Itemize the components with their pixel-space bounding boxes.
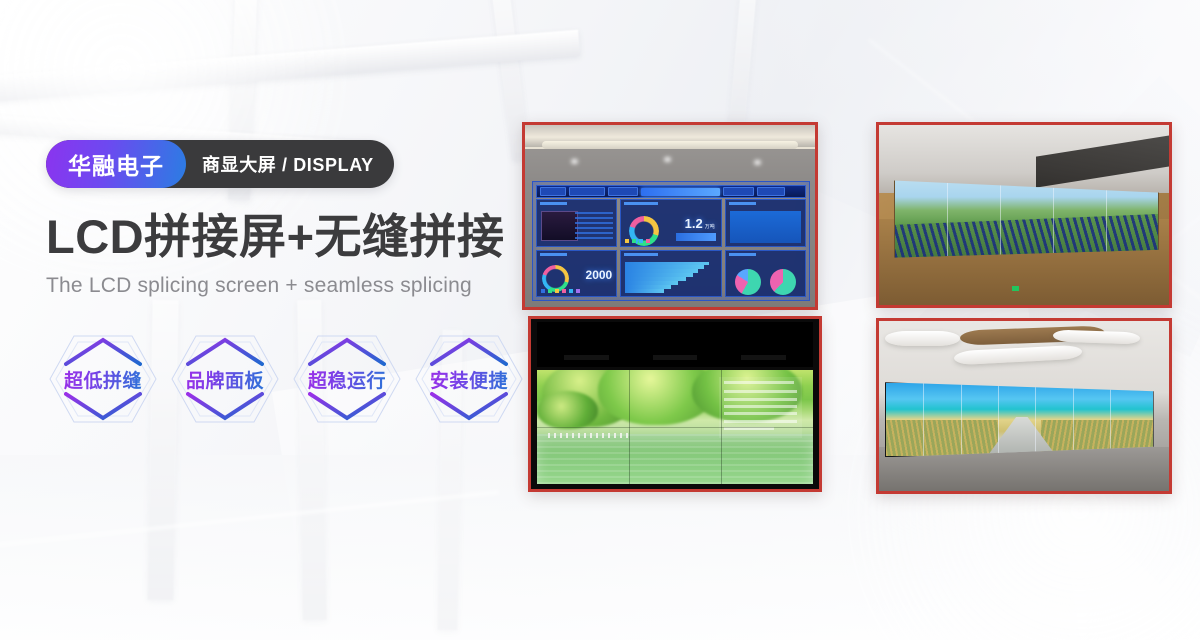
water-reflection bbox=[537, 434, 813, 484]
dashboard-card bbox=[725, 250, 806, 298]
product-photo-control-room: 1.2万吨 2000 bbox=[522, 122, 818, 310]
video-wall-top-row-off bbox=[537, 322, 813, 366]
feature-badge-label: 超低拼缝 bbox=[64, 366, 142, 393]
bar-list bbox=[625, 262, 717, 294]
page-title: LCD拼接屏+无缝拼接 bbox=[46, 212, 546, 261]
dashboard-card bbox=[536, 199, 617, 247]
calendar-overlay bbox=[719, 377, 802, 439]
feature-badge-1: 超低拼缝 bbox=[46, 326, 160, 432]
exit-sign-icon bbox=[1012, 286, 1019, 291]
product-photo-lake-wall bbox=[528, 316, 822, 492]
page-subtitle: The LCD splicing screen + seamless splic… bbox=[46, 274, 546, 298]
headline-block: 华融电子 商显大屏 / DISPLAY LCD拼接屏+无缝拼接 The LCD … bbox=[46, 140, 546, 432]
dashboard-card bbox=[620, 250, 722, 298]
dashboard-header bbox=[536, 185, 806, 198]
category-label: 商显大屏 / DISPLAY bbox=[186, 140, 394, 188]
lake-scene-image bbox=[537, 370, 813, 484]
product-banner: 华融电子 商显大屏 / DISPLAY LCD拼接屏+无缝拼接 The LCD … bbox=[0, 0, 1200, 640]
ceiling-light-panel bbox=[885, 331, 960, 346]
feature-badge-4: 安装便捷 bbox=[412, 326, 526, 432]
metric-value: 2000 bbox=[586, 268, 613, 282]
metric-value: 1.2万吨 bbox=[685, 216, 715, 231]
product-photo-corridor-wall bbox=[876, 122, 1172, 308]
feature-badge-list: 超低拼缝 品牌面板 超稳运行 bbox=[46, 326, 546, 432]
product-photo-boardwalk-wall bbox=[876, 318, 1172, 494]
brand-name-label: 华融电子 bbox=[46, 140, 186, 188]
pie-charts bbox=[726, 265, 805, 298]
lakeside-railing bbox=[548, 433, 631, 439]
feature-badge-label: 超稳运行 bbox=[308, 366, 386, 393]
dashboard-card: 1.2万吨 bbox=[620, 199, 722, 247]
feature-badge-label: 品牌面板 bbox=[186, 366, 264, 393]
feature-badge-3: 超稳运行 bbox=[290, 326, 404, 432]
brand-badge: 华融电子 商显大屏 / DISPLAY bbox=[46, 140, 394, 188]
feature-badge-2: 品牌面板 bbox=[168, 326, 282, 432]
dashboard-card bbox=[725, 199, 806, 247]
photo-ceiling bbox=[525, 125, 815, 149]
dashboard-card: 2000 bbox=[536, 250, 617, 298]
feature-badge-label: 安装便捷 bbox=[430, 366, 508, 393]
flow-diagram bbox=[730, 211, 801, 243]
dashboard-screen: 1.2万吨 2000 bbox=[532, 181, 810, 301]
video-wall-screen bbox=[885, 382, 1154, 457]
